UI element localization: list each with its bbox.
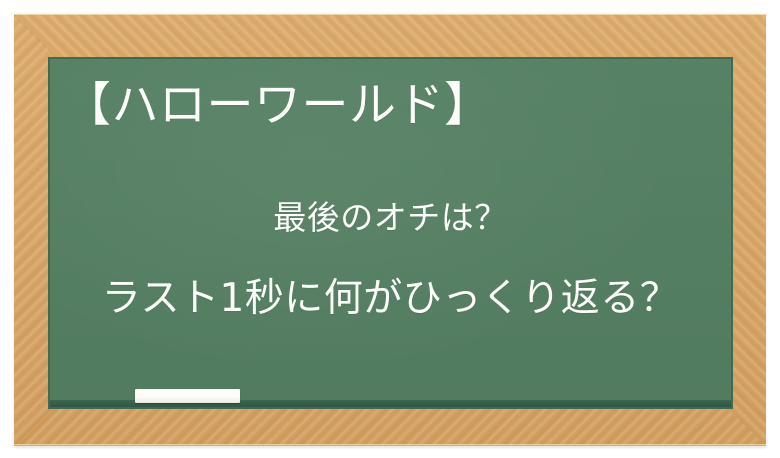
- frame-highlight-bottom: [14, 444, 766, 446]
- frame-rail-bottom: [14, 409, 766, 446]
- frame-highlight-top: [14, 14, 766, 15]
- chalk-stick: [135, 389, 240, 403]
- page-title: 【ハローワールド】: [64, 81, 492, 130]
- slide-canvas: 【ハローワールド】 最後のオチは？ ラスト1秒に何がひっくり返る？: [0, 0, 780, 458]
- question-line-2: ラスト1秒に何がひっくり返る？: [50, 267, 731, 323]
- chalkboard-surface: 【ハローワールド】 最後のオチは？ ラスト1秒に何がひっくり返る？: [48, 57, 733, 409]
- question-line-1: 最後のオチは？: [50, 191, 731, 239]
- frame-stile-right: [732, 14, 766, 446]
- frame-stile-left: [14, 14, 49, 446]
- chalkboard-text-area: 【ハローワールド】 最後のオチは？ ラスト1秒に何がひっくり返る？: [50, 59, 731, 407]
- frame-rail-top: [14, 14, 766, 58]
